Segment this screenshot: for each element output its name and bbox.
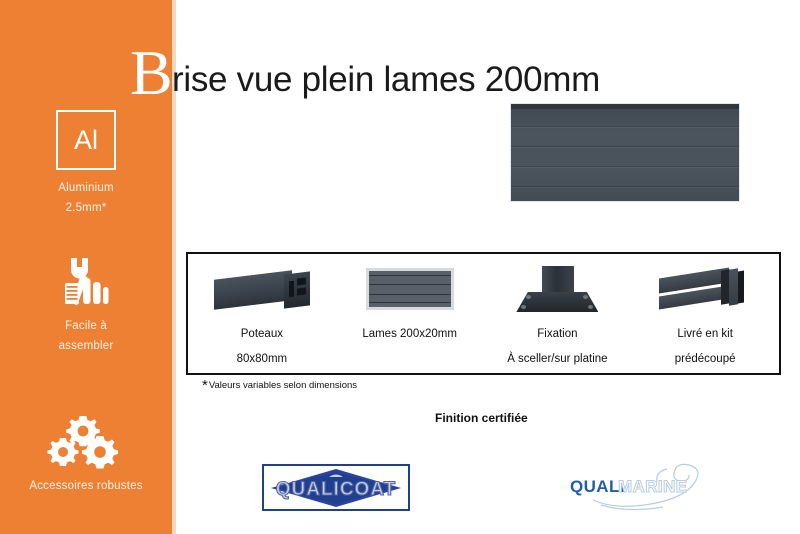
spec-column-poteaux: Poteaux 80x80mm [188, 254, 336, 373]
feature-aluminium-label-1: Aluminium [0, 178, 172, 198]
hero-top-rail [511, 104, 739, 109]
page-title-initial: B [130, 44, 173, 102]
hero-seam [511, 147, 739, 148]
footnote: *Valeurs variables selon dimensions [202, 380, 357, 392]
specification-panel: Poteaux 80x80mm Lames 200x20mm [186, 252, 781, 375]
aluminium-square-icon: Al [56, 110, 116, 170]
certification-title: Finition certifiée [435, 411, 528, 425]
kit-stack-image [631, 260, 779, 318]
feature-easy-assembly-label-2: assembler [0, 336, 172, 356]
wrench-tools-icon [0, 252, 172, 310]
footnote-text: Valeurs variables selon dimensions [209, 380, 357, 391]
page-title: B rise vue plein lames 200mm [0, 24, 800, 86]
spec-label-kit-2: prédécoupé [675, 352, 736, 367]
svg-text:QUALI: QUALI [570, 477, 625, 496]
feature-aluminium: Al Aluminium 2.5mm* [0, 110, 172, 218]
feature-robust-accessories: Accessoires robustes [0, 412, 172, 496]
feature-robust-accessories-label-1: Accessoires robustes [0, 476, 172, 496]
spec-label-lames-1: Lames 200x20mm [362, 327, 457, 342]
spec-column-fixation: Fixation À sceller/sur platine [484, 254, 632, 373]
spec-label-fixation-1: Fixation [537, 327, 577, 342]
svg-text:QUALICOAT: QUALICOAT [276, 479, 397, 500]
svg-text:MARINE: MARINE [618, 477, 687, 496]
post-profile-image [188, 260, 336, 318]
spec-column-lames: Lames 200x20mm [336, 254, 484, 373]
spec-label-kit-1: Livré en kit [677, 327, 733, 342]
fence-panel-photo [510, 103, 740, 202]
spec-label-fixation-2: À sceller/sur platine [507, 352, 607, 367]
feature-aluminium-label-2: 2.5mm* [0, 198, 172, 218]
qualimarine-logo: QUALI MARINE [565, 460, 715, 512]
feature-easy-assembly: Facile à assembler [0, 252, 172, 356]
gears-icon [0, 412, 172, 470]
hero-seam [511, 187, 739, 188]
spec-label-poteaux-1: Poteaux [241, 327, 283, 342]
base-plate-image [484, 260, 632, 318]
hero-seam [511, 167, 739, 168]
footnote-star: * [202, 377, 208, 394]
page-title-text: rise vue plein lames 200mm [172, 58, 600, 102]
hero-seam [511, 127, 739, 128]
feature-easy-assembly-label-1: Facile à [0, 316, 172, 336]
product-datasheet: Al Aluminium 2.5mm* F [0, 0, 800, 534]
aluminium-symbol-label: Al [74, 127, 98, 154]
slat-panel-image [336, 260, 484, 318]
spec-column-kit: Livré en kit prédécoupé [631, 254, 779, 373]
spec-label-poteaux-2: 80x80mm [237, 352, 288, 367]
qualicoat-logo: QUALICOAT [262, 464, 410, 511]
